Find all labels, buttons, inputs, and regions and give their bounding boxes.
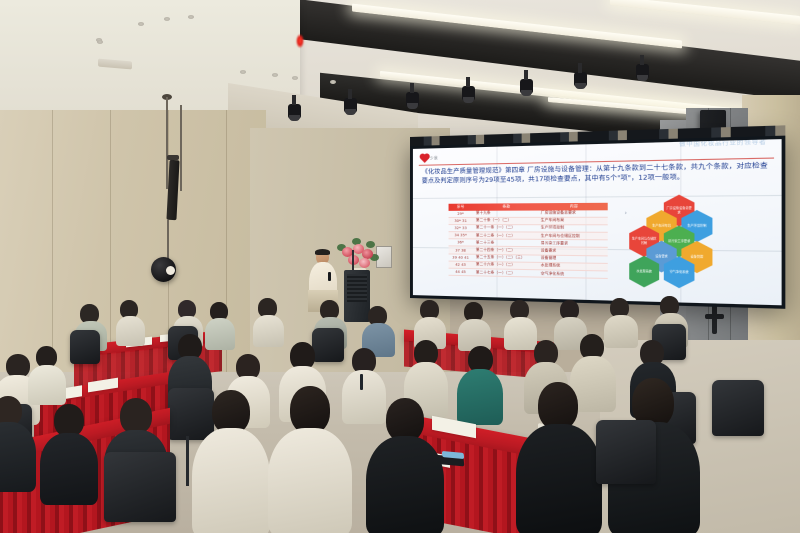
table-cell: 第二十七条（一）（二） [473, 270, 538, 276]
downlight-icon [188, 15, 194, 19]
table-cell: 39 40 41 [449, 255, 473, 259]
table-cell: 36* [449, 241, 473, 245]
chair [312, 328, 344, 362]
table-cell: 30* 31 [449, 219, 473, 223]
presenter-hair [315, 249, 330, 255]
chair [712, 380, 764, 436]
table-cell: 设备要求 [538, 248, 608, 254]
slide-logo: 少泉 [422, 155, 438, 161]
ceiling-light-strip-2 [610, 0, 800, 25]
downlight-icon [138, 22, 144, 26]
downlight-icon [292, 76, 298, 80]
column-header-content: 内容 [538, 204, 608, 210]
pendant-rod [180, 105, 182, 191]
slide-watermark: 做中国化妆品行业的领导者 [679, 139, 766, 148]
downlight-icon [164, 17, 170, 21]
wall-clock-icon [151, 257, 176, 282]
column-header-no: 序号 [449, 204, 473, 209]
table-cell: 32* 33 [449, 226, 473, 230]
podium-speaker-box [344, 270, 370, 322]
table-cell: 第十九条 [473, 211, 538, 216]
table-cell: 生产车间与仓储区控制 [538, 233, 608, 239]
pointer-arrow-icon: › [625, 210, 627, 216]
stage-spotlight-icon [288, 104, 301, 119]
table-row: 29*第十九条厂房设施设备总要求 [449, 210, 608, 218]
table-cell: 第二十二条（一）（二） [473, 233, 538, 239]
table-cell: 空气净化系统 [538, 271, 608, 278]
stage-spotlight-icon [344, 98, 357, 113]
table-cell: 第二十四条（一）（二） [473, 248, 538, 254]
stage-spotlight-icon [462, 86, 475, 101]
table-cell: 42 43 [449, 263, 473, 267]
table-cell: 第二十条（一）（二） [473, 218, 538, 223]
table-cell: 44 45 [449, 270, 473, 275]
table-cell: 生产环境控制 [538, 226, 608, 231]
table-cell: 设备管理 [538, 256, 608, 262]
stage-spotlight-icon [406, 92, 419, 107]
table-cell: 第二十六条（一）（二） [473, 262, 538, 268]
chair [70, 330, 100, 364]
downlight-icon [240, 70, 246, 74]
column-header-clause: 条款 [473, 204, 538, 209]
table-cell: 29* [449, 211, 473, 215]
presentation-slide: 少泉 做中国化妆品行业的领导者 《化妆品生产质量管理规范》第四章 厂房设施与设备… [413, 139, 782, 305]
led-display-wall: 少泉 做中国化妆品行业的领导者 《化妆品生产质量管理规范》第四章 厂房设施与设备… [410, 132, 785, 309]
hexagon-diagram: › 厂房设施设备总要求生产车间布局生产环境控制生产车间与仓储区控制易污染工序要求… [629, 194, 730, 299]
slide-paragraph: 《化妆品生产质量管理规范》第四章 厂房设施与设备管理：从第十九条款到二十七条款，… [422, 161, 768, 186]
chair [104, 452, 176, 522]
table-cell: 水处理系统 [538, 263, 608, 269]
chair-leg [186, 436, 189, 486]
stage-spotlight-icon [520, 79, 533, 94]
chair [596, 420, 656, 484]
table-body: 29*第十九条厂房设施设备总要求30* 31第二十条（一）（二）生产车间布局32… [449, 210, 608, 279]
pendant-rod [166, 97, 168, 189]
table-cell: 生产车间布局 [538, 218, 608, 223]
downlight-icon [272, 73, 278, 77]
table-cell: 易污染工序要求 [538, 241, 608, 247]
downlight-icon [330, 80, 336, 84]
table-cell: 第二十一条（一）（二） [473, 226, 538, 231]
lanyard [360, 374, 363, 390]
stage-spotlight-icon [574, 72, 587, 87]
conference-room-photo: 少泉 做中国化妆品行业的领导者 《化妆品生产质量管理规范》第四章 厂房设施与设备… [0, 0, 800, 533]
slide-table: 序号 条款 内容 29*第十九条厂房设施设备总要求30* 31第二十条（一）（二… [449, 203, 608, 279]
heart-icon [421, 154, 429, 163]
table-cell: 第二十五条（一）（二）（三） [473, 255, 538, 261]
chair [168, 388, 214, 440]
table-row: 44 45第二十七条（一）（二）空气净化系统 [449, 269, 608, 280]
downlight-icon [97, 40, 103, 44]
stage-spotlight-icon [636, 64, 649, 79]
table-cell: 第二十三条 [473, 240, 538, 246]
microphone-icon [328, 272, 331, 281]
slide-logo-text: 少泉 [430, 155, 439, 161]
table-cell: 37 38 [449, 248, 473, 252]
table-cell: 34 35* [449, 233, 473, 237]
table-cell: 厂房设施设备总要求 [538, 210, 608, 215]
laser-pointer-dot [296, 34, 304, 48]
